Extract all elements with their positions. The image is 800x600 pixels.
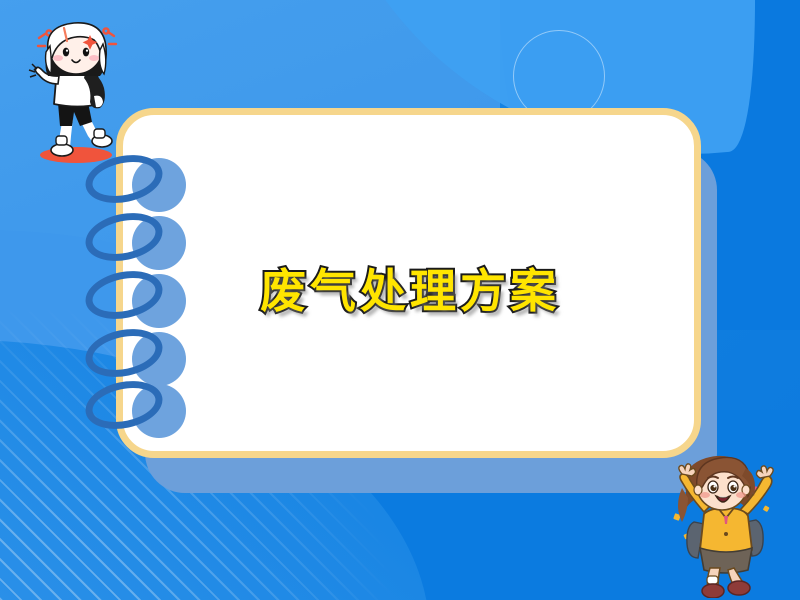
cartoon-girl-waving (18, 8, 133, 168)
page-title: 废气处理方案 (260, 255, 560, 321)
slide-canvas: 废气处理方案 (0, 0, 800, 600)
title-container: 废气处理方案 (170, 255, 650, 321)
cartoon-girl-jumping (660, 448, 795, 598)
